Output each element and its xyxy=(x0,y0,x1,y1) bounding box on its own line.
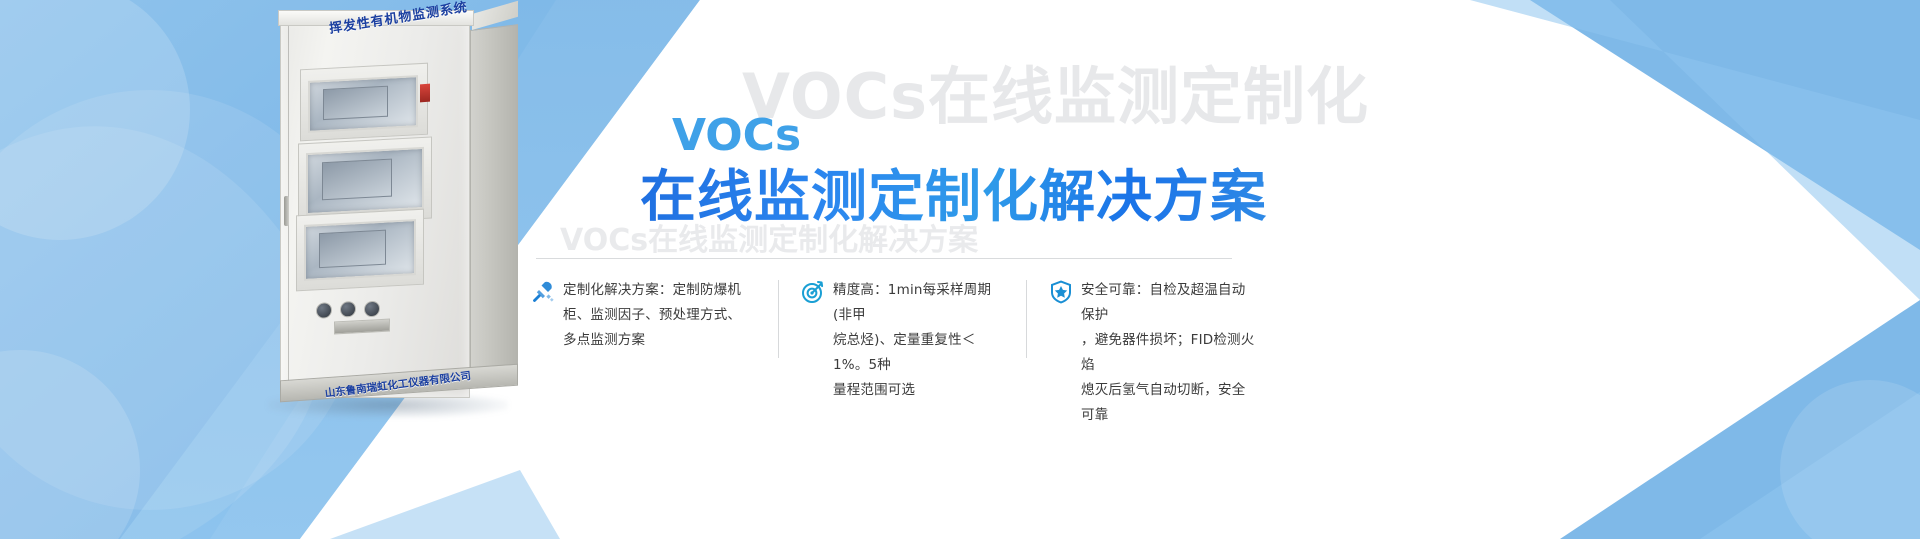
shield-star-icon xyxy=(1048,279,1074,305)
feature-text: 定制化解决方案：定制防爆机 柜、监测因子、预处理方式、 多点监测方案 xyxy=(563,278,741,353)
feature-line: 多点监测方案 xyxy=(563,332,645,348)
ghost-headline-top: VOCs在线监测定制化 xyxy=(742,46,1369,136)
feature-item-accuracy: 精度高：1min每采样周期(非甲 烷总烃)、定量重复性＜1%。5种 量程范围可选 xyxy=(778,278,1026,403)
banner-content: VOCs在线监测定制化 VOCs 在线监测定制化解决方案 VOCs在线监测定制化… xyxy=(0,0,1920,539)
vocs-promo-banner: 挥发性有机物监测系统 山东鲁南瑞虹化工仪器有限公司 VOCs在线监测定制化 VO… xyxy=(0,0,1920,539)
feature-text: 安全可靠：自检及超温自动保护 ，避免器件损坏；FID检测火焰 熄灭后氢气自动切断… xyxy=(1081,278,1256,428)
feature-text: 精度高：1min每采样周期(非甲 烷总烃)、定量重复性＜1%。5种 量程范围可选 xyxy=(833,278,1008,403)
feature-line: 定制化解决方案：定制防爆机 xyxy=(563,282,741,298)
feature-line: ，避免器件损坏；FID检测火焰 xyxy=(1081,332,1254,373)
feature-line: 烷总烃)、定量重复性＜1%。5种 xyxy=(833,332,975,373)
feature-line: 柜、监测因子、预处理方式、 xyxy=(563,307,741,323)
feature-item-customization: 定制化解决方案：定制防爆机 柜、监测因子、预处理方式、 多点监测方案 xyxy=(530,278,778,353)
ghost-headline-bottom: VOCs在线监测定制化解决方案 xyxy=(560,215,978,259)
feature-separator xyxy=(778,280,779,358)
feature-separator xyxy=(1026,280,1027,358)
tools-icon xyxy=(530,279,556,305)
headline-divider xyxy=(536,258,1232,259)
feature-item-safety: 安全可靠：自检及超温自动保护 ，避免器件损坏；FID检测火焰 熄灭后氢气自动切断… xyxy=(1026,278,1274,428)
feature-line: 量程范围可选 xyxy=(833,382,915,398)
target-icon xyxy=(800,279,826,305)
feature-line: 精度高：1min每采样周期(非甲 xyxy=(833,282,991,323)
feature-list: 定制化解决方案：定制防爆机 柜、监测因子、预处理方式、 多点监测方案 xyxy=(530,278,1530,378)
feature-line: 安全可靠：自检及超温自动保护 xyxy=(1081,282,1245,323)
feature-line: 熄灭后氢气自动切断，安全可靠 xyxy=(1081,382,1245,423)
